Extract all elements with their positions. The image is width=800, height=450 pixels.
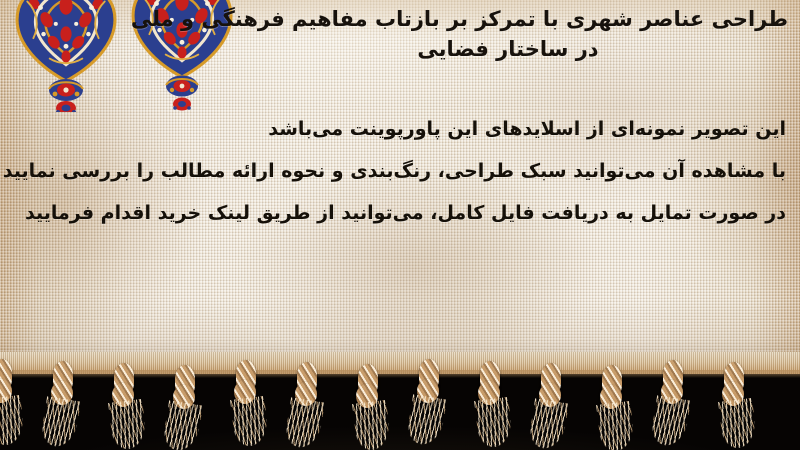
persian-medallion-left-icon (10, 0, 122, 112)
persian-medallion-right-icon (126, 0, 238, 112)
black-backdrop-band (0, 362, 800, 450)
slide-canvas: طراحی عناصر شهری با تمرکز بر بازتاب مفاه… (0, 0, 800, 450)
